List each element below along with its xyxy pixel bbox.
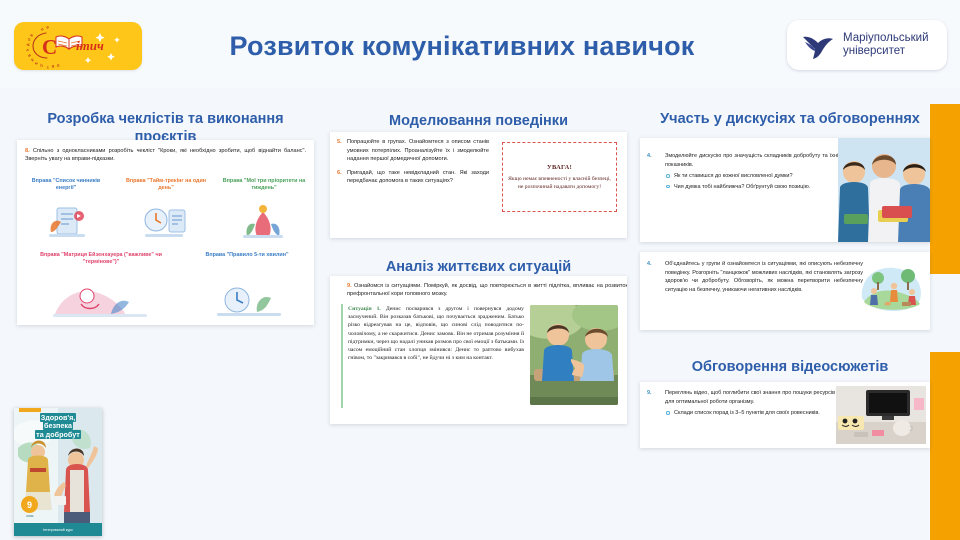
task-text: Попрацюйте в групах. Ознайомтеся з описо… bbox=[347, 139, 489, 162]
desk-with-monitor-photo bbox=[836, 386, 926, 444]
heading-video-discussion: Обговорення відеосюжетів bbox=[640, 358, 940, 376]
university-name-line1: Маріупольський bbox=[843, 32, 929, 45]
university-badge: Маріупольський університет bbox=[787, 20, 947, 70]
page-title: Розвиток комунікативних навичок bbox=[162, 24, 762, 68]
svg-text:Т: Т bbox=[46, 65, 49, 69]
task-number: 4. bbox=[647, 260, 652, 269]
card-discussions: 4. Змоделюйте дискусію про значущість ск… bbox=[640, 138, 930, 242]
exercise-label-time-tracking: Вправа "Тайм-трекінг на один день" bbox=[121, 178, 211, 193]
eisenhower-art-icon bbox=[51, 280, 151, 320]
list-item: Склади список порад із 3–5 пунктів для с… bbox=[665, 409, 835, 418]
svg-text:Д: Д bbox=[26, 43, 30, 46]
attention-text: Якщо немає впевненості у власній безпеці… bbox=[507, 175, 612, 191]
svg-text:C: C bbox=[42, 35, 57, 59]
task-text: Спільно з однокласниками розробіть чеклі… bbox=[25, 148, 306, 162]
svg-text:И: И bbox=[46, 25, 50, 30]
heading-discussions: Участь у дискусіях та обговореннях bbox=[640, 110, 940, 128]
task-number: 9. bbox=[647, 389, 652, 398]
attention-title: УВАГА! bbox=[547, 163, 572, 172]
discussion-task: 4. Змоделюйте дискусію про значущість ск… bbox=[656, 152, 841, 193]
checklist-task: 8. Спільно з однокласниками розробіть че… bbox=[25, 147, 306, 164]
card-checklists: 8. Спільно з однокласниками розробіть че… bbox=[17, 140, 314, 325]
brand-logo-badge: C imич В И Д А В Н И Н И Ц bbox=[14, 22, 142, 70]
park-people-illustration bbox=[858, 258, 926, 322]
task-text: Пригадай, що таке невідкладний стан. Які… bbox=[347, 170, 489, 185]
modeling-task-6: 6. Пригадай, що таке невідкладний стан. … bbox=[337, 169, 489, 186]
modeling-task-list: 5. Попрацюйте в групах. Ознайомтеся з оп… bbox=[337, 138, 489, 191]
cover-title-line3: та добробут bbox=[35, 430, 81, 439]
time-tracking-art-icon bbox=[139, 202, 189, 242]
svitych-logo-icon: C imич В И Д А В Н И Н И Ц bbox=[16, 23, 140, 69]
chain-task: 4. Об'єднайтесь у групи й ознайомтеся із… bbox=[656, 260, 863, 294]
exercise-label-eisenhower: Вправа "Матриця Ейзенхауера ("важливе" ч… bbox=[31, 252, 171, 267]
situation-accent-bar bbox=[341, 304, 343, 408]
task-text: Переглянь відео, щоб поглибити свої знан… bbox=[665, 390, 835, 405]
task-number: 9. bbox=[347, 283, 352, 289]
svg-text:В: В bbox=[29, 33, 34, 38]
cover-title-line2: безпека bbox=[43, 421, 73, 430]
card-video-discussion: 9. Переглянь відео, щоб поглибити свої з… bbox=[640, 382, 930, 448]
svg-text:А: А bbox=[25, 48, 30, 52]
svg-text:В: В bbox=[51, 64, 55, 68]
task-number: 6. bbox=[337, 169, 342, 178]
exercise-label-energy-list: Вправа "Список чинників енергії" bbox=[27, 178, 105, 193]
card-modeling: 5. Попрацюйте в групах. Ознайомтеся з оп… bbox=[330, 132, 627, 238]
situation-1-text: Ситуація 1. Денис посварився з другом і … bbox=[348, 305, 524, 362]
svg-text:Ц: Ц bbox=[39, 63, 43, 68]
modeling-task-5: 5. Попрацюйте в групах. Ознайомтеся з оп… bbox=[337, 138, 489, 164]
card-behaviour-chain: 4. Об'єднайтесь у групи й ознайомтеся із… bbox=[640, 252, 930, 330]
situation-label: Ситуація 1. bbox=[348, 306, 381, 312]
task-number: 8. bbox=[25, 148, 30, 154]
task-number: 4. bbox=[647, 152, 652, 161]
priorities-art-icon bbox=[237, 202, 289, 242]
svg-text:Н: Н bbox=[40, 27, 45, 32]
heading-life-situations: Аналіз життєвих ситуацій bbox=[330, 258, 627, 276]
situation-body: Денис посварився з другом і повернувся д… bbox=[348, 306, 524, 361]
discussion-bullets: Як ти ставишся до кожної висловленої дум… bbox=[665, 172, 841, 191]
attention-callout: УВАГА! Якщо немає впевненості у власній … bbox=[502, 142, 617, 212]
svg-text:О: О bbox=[56, 63, 60, 68]
video-task: 9. Переглянь відео, щоб поглибити свої з… bbox=[656, 389, 835, 420]
list-item: Чия думка тобі найближча? Обґрунтуй свою… bbox=[665, 183, 841, 192]
cover-grade-badge: 9 bbox=[21, 496, 38, 513]
svg-text:И: И bbox=[27, 37, 32, 41]
decorative-orange-block-bottom bbox=[930, 352, 960, 540]
five-minutes-art-icon bbox=[213, 280, 287, 320]
svg-text:В: В bbox=[27, 53, 32, 58]
task-text: Об'єднайтесь у групи й ознайомтеся із си… bbox=[665, 261, 863, 293]
exercise-label-priorities: Вправа "Мої три пріоритети на тиждень" bbox=[219, 178, 309, 193]
exercise-label-five-minutes: Вправа "Правило 5-ти хвилин" bbox=[193, 252, 301, 259]
cover-top-tab bbox=[19, 408, 41, 412]
slide-header: C imич В И Д А В Н И Н И Ц bbox=[0, 0, 960, 88]
energy-list-art-icon bbox=[43, 202, 91, 242]
task-text: Змоделюйте дискусію про значущість склад… bbox=[665, 153, 841, 168]
card-life-situations: 9. Ознайомся із ситуаціями. Поміркуй, як… bbox=[330, 276, 627, 424]
heading-modeling: Моделювання поведінки bbox=[330, 112, 627, 130]
cover-grade-label: клас bbox=[20, 514, 40, 518]
svg-text:И: И bbox=[34, 61, 39, 66]
two-teen-boys-talking-photo bbox=[530, 305, 618, 405]
cover-footer: Інтегрований курс bbox=[14, 523, 102, 536]
bird-icon bbox=[801, 30, 835, 60]
students-with-books-photo bbox=[838, 138, 930, 242]
cover-title: Здоров'я, безпека та добробут bbox=[18, 414, 98, 439]
textbook-cover: Здоров'я, безпека та добробут 9 клас Інт… bbox=[14, 408, 102, 536]
task-text: Ознайомся із ситуаціями. Поміркуй, як до… bbox=[347, 283, 627, 297]
list-item: Як ти ставишся до кожної висловленої дум… bbox=[665, 172, 841, 181]
decorative-orange-block-top bbox=[930, 104, 960, 274]
situations-task: 9. Ознайомся із ситуаціями. Поміркуй, як… bbox=[338, 282, 627, 299]
svg-text:Н: Н bbox=[30, 57, 35, 62]
task-number: 5. bbox=[337, 138, 342, 147]
university-name-line2: університет bbox=[843, 45, 929, 58]
video-bullets: Склади список порад із 3–5 пунктів для с… bbox=[665, 409, 835, 418]
